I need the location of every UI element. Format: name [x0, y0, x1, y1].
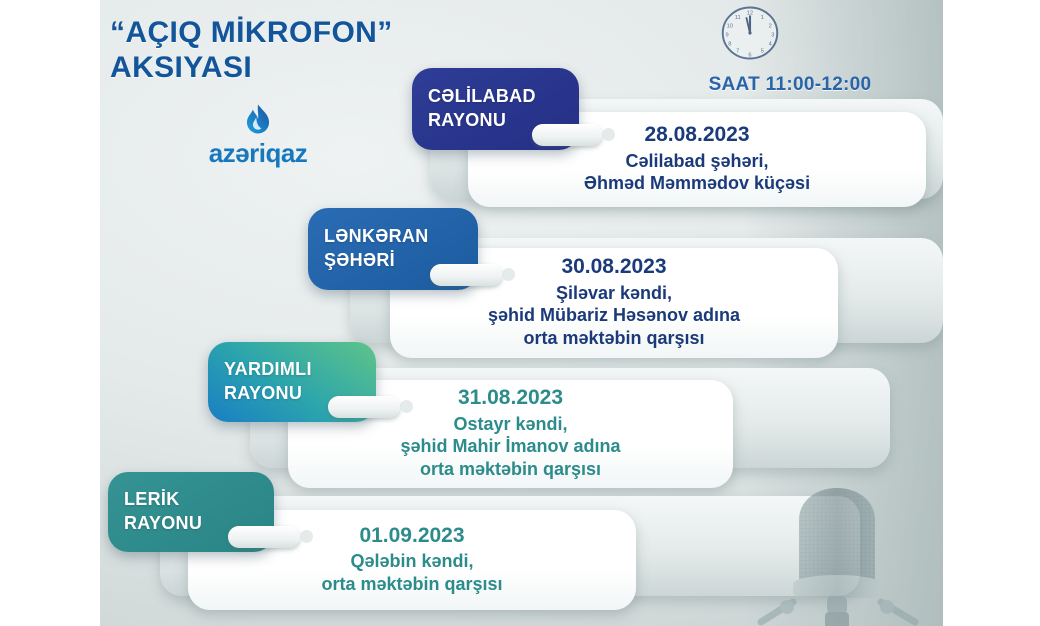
event-address-line-1: Cəlilabad şəhəri, — [625, 150, 768, 173]
svg-text:4: 4 — [769, 41, 772, 47]
event-date: 30.08.2023 — [561, 254, 666, 280]
badge-line-1: LƏNKƏRAN — [324, 225, 462, 249]
svg-text:8: 8 — [728, 41, 731, 47]
event-address-line-1: Ostayr kəndi, — [453, 413, 567, 436]
event-address-line-1: Qələbin kəndi, — [350, 550, 473, 573]
event-address-line-2: şəhid Mahir İmanov adına — [400, 435, 620, 458]
badge-line-1: YARDIMLI — [224, 358, 360, 382]
badge-line-1: LERİK — [124, 488, 258, 512]
badge-card-connector — [228, 526, 300, 548]
svg-text:6: 6 — [748, 53, 751, 59]
event-date: 01.09.2023 — [359, 523, 464, 549]
event-address-line-2: orta məktəbin qarşısı — [321, 573, 502, 596]
svg-text:10: 10 — [727, 24, 733, 30]
event-address-line-1: Şiləvar kəndi, — [556, 282, 672, 305]
entry-row: CƏLİLABAD RAYONU 28.08.2023 Cəlilabad şə… — [100, 64, 943, 214]
badge-card-connector — [532, 124, 602, 146]
event-date: 28.08.2023 — [644, 122, 749, 148]
event-address-line-2: şəhid Mübariz Həsənov adına — [488, 304, 740, 327]
event-date: 31.08.2023 — [458, 385, 563, 411]
badge-card-connector — [430, 264, 502, 286]
svg-text:7: 7 — [736, 48, 739, 54]
svg-text:1: 1 — [761, 15, 764, 21]
microphone-icon — [757, 476, 943, 626]
badge-card-connector — [328, 396, 400, 418]
svg-text:9: 9 — [726, 33, 729, 39]
title-line-1: “AÇIQ MİKROFON” — [110, 16, 393, 49]
svg-text:3: 3 — [771, 33, 774, 39]
svg-text:11: 11 — [735, 15, 741, 21]
svg-text:5: 5 — [761, 48, 764, 54]
clock-icon: 1212 345 678 91011 — [719, 4, 781, 62]
badge-line-1: CƏLİLABAD — [428, 85, 563, 109]
event-address-line-2: Əhməd Məmmədov küçəsi — [584, 172, 810, 195]
poster-canvas: “AÇIQ MİKROFON” AKSIYASI azəriqaz 1212 3… — [100, 0, 943, 626]
svg-text:2: 2 — [769, 24, 772, 30]
